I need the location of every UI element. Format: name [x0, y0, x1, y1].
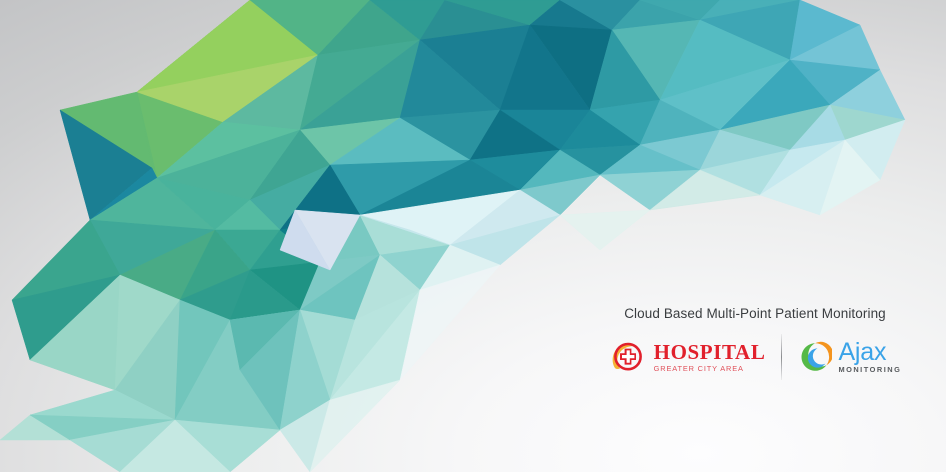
- logo-divider: [781, 334, 782, 380]
- hospital-name: HOSPITAL: [654, 342, 766, 362]
- hospital-cross-circle-icon: [609, 338, 647, 376]
- hero-banner: Cloud Based Multi-Point Patient Monitori…: [0, 0, 946, 472]
- branding-lockup: Cloud Based Multi-Point Patient Monitori…: [610, 306, 900, 398]
- logo-row: HOSPITAL GREATER CITY AREA Ajax MONITORI…: [610, 334, 900, 380]
- low-poly-artwork: [0, 0, 946, 472]
- hospital-logo[interactable]: HOSPITAL GREATER CITY AREA: [609, 338, 766, 376]
- ajax-logo[interactable]: Ajax MONITORING: [798, 340, 901, 374]
- ajax-name: Ajax: [838, 340, 901, 364]
- ajax-subtitle: MONITORING: [838, 366, 901, 374]
- ajax-circular-arcs-icon: [798, 340, 832, 374]
- tagline: Cloud Based Multi-Point Patient Monitori…: [610, 306, 900, 322]
- hospital-wordmark: HOSPITAL GREATER CITY AREA: [654, 342, 766, 373]
- hospital-subtitle: GREATER CITY AREA: [654, 365, 766, 373]
- triangle-group: [0, 0, 905, 472]
- ajax-wordmark: Ajax MONITORING: [838, 340, 901, 374]
- polygon-facet: [560, 210, 650, 250]
